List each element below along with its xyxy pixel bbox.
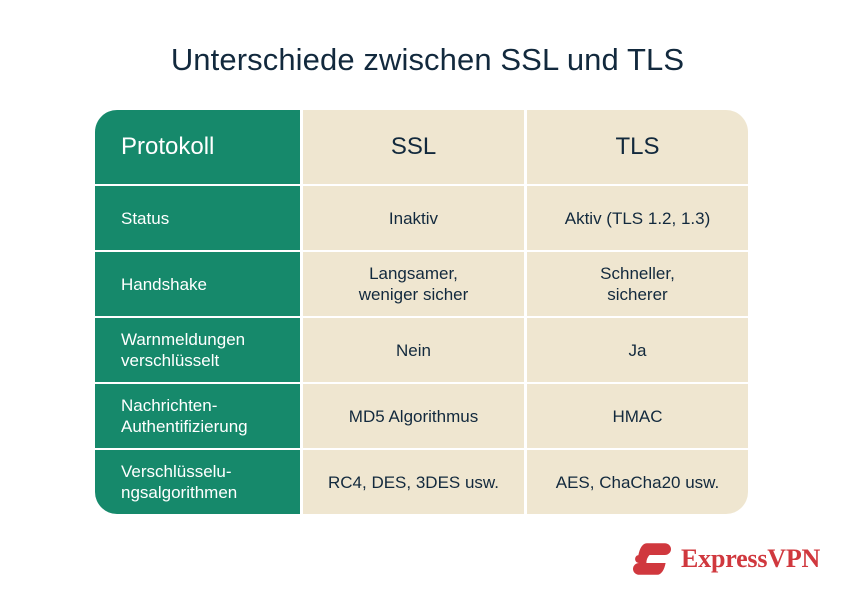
table-row: Warnmeldungen verschlüsselt Nein Ja <box>95 318 748 382</box>
table-header-row: Protokoll SSL TLS <box>95 110 748 184</box>
comparison-table: Protokoll SSL TLS Status Inaktiv Aktiv (… <box>95 110 748 514</box>
table-row-tls-label: Schneller, sicherer <box>600 263 675 305</box>
table-row-ssl-label: Inaktiv <box>389 208 438 229</box>
table-row-key-label: Warnmeldungen verschlüsselt <box>121 329 245 371</box>
table-row-tls-label: HMAC <box>612 406 662 427</box>
table-row-tls-label: AES, ChaCha20 usw. <box>556 472 719 493</box>
brand-wordmark: ExpressVPN <box>681 546 820 572</box>
table-row: Nachrichten- Authentifizierung MD5 Algor… <box>95 384 748 448</box>
table-row-ssl-label: Langsamer, weniger sicher <box>359 263 469 305</box>
table-row-key: Warnmeldungen verschlüsselt <box>95 318 300 382</box>
table-row-ssl-value: Inaktiv <box>303 186 524 250</box>
table-row-ssl-value: RC4, DES, 3DES usw. <box>303 450 524 514</box>
table-row-tls-value: AES, ChaCha20 usw. <box>527 450 748 514</box>
table-row-ssl-value: Langsamer, weniger sicher <box>303 252 524 316</box>
table-row-key-label: Nachrichten- Authentifizierung <box>121 395 248 437</box>
table-header-cell-ssl: SSL <box>303 110 524 184</box>
table-header-cell-tls: TLS <box>527 110 748 184</box>
table-row-ssl-label: MD5 Algorithmus <box>349 406 478 427</box>
infographic-page: Unterschiede zwischen SSL und TLS Protok… <box>0 0 855 603</box>
table-row-key: Handshake <box>95 252 300 316</box>
table-row-tls-value: Ja <box>527 318 748 382</box>
table-row-key-label: Handshake <box>121 274 207 295</box>
table-row-key-label: Verschlüsselu- ngsalgorithmen <box>121 461 237 503</box>
table-row-tls-value: Schneller, sicherer <box>527 252 748 316</box>
table-header-label-protocol: Protokoll <box>121 133 214 161</box>
table-row-tls-value: HMAC <box>527 384 748 448</box>
table-row: Handshake Langsamer, weniger sicher Schn… <box>95 252 748 316</box>
expressvpn-e-mark-icon <box>632 542 672 576</box>
table-header-label-ssl: SSL <box>391 133 436 161</box>
table-row-key: Status <box>95 186 300 250</box>
table-row: Status Inaktiv Aktiv (TLS 1.2, 1.3) <box>95 186 748 250</box>
table-row-tls-label: Aktiv (TLS 1.2, 1.3) <box>565 208 711 229</box>
table-row-key: Nachrichten- Authentifizierung <box>95 384 300 448</box>
table-row-ssl-label: Nein <box>396 340 431 361</box>
table-row-ssl-value: MD5 Algorithmus <box>303 384 524 448</box>
table-header-cell-protocol: Protokoll <box>95 110 300 184</box>
table-row-tls-label: Ja <box>629 340 647 361</box>
page-title: Unterschiede zwischen SSL und TLS <box>0 40 855 80</box>
table-row: Verschlüsselu- ngsalgorithmen RC4, DES, … <box>95 450 748 514</box>
table-row-ssl-label: RC4, DES, 3DES usw. <box>328 472 499 493</box>
table-row-ssl-value: Nein <box>303 318 524 382</box>
table-row-key: Verschlüsselu- ngsalgorithmen <box>95 450 300 514</box>
table-row-tls-value: Aktiv (TLS 1.2, 1.3) <box>527 186 748 250</box>
brand-logo: ExpressVPN <box>632 542 820 576</box>
table-header-label-tls: TLS <box>615 133 659 161</box>
table-row-key-label: Status <box>121 208 169 229</box>
